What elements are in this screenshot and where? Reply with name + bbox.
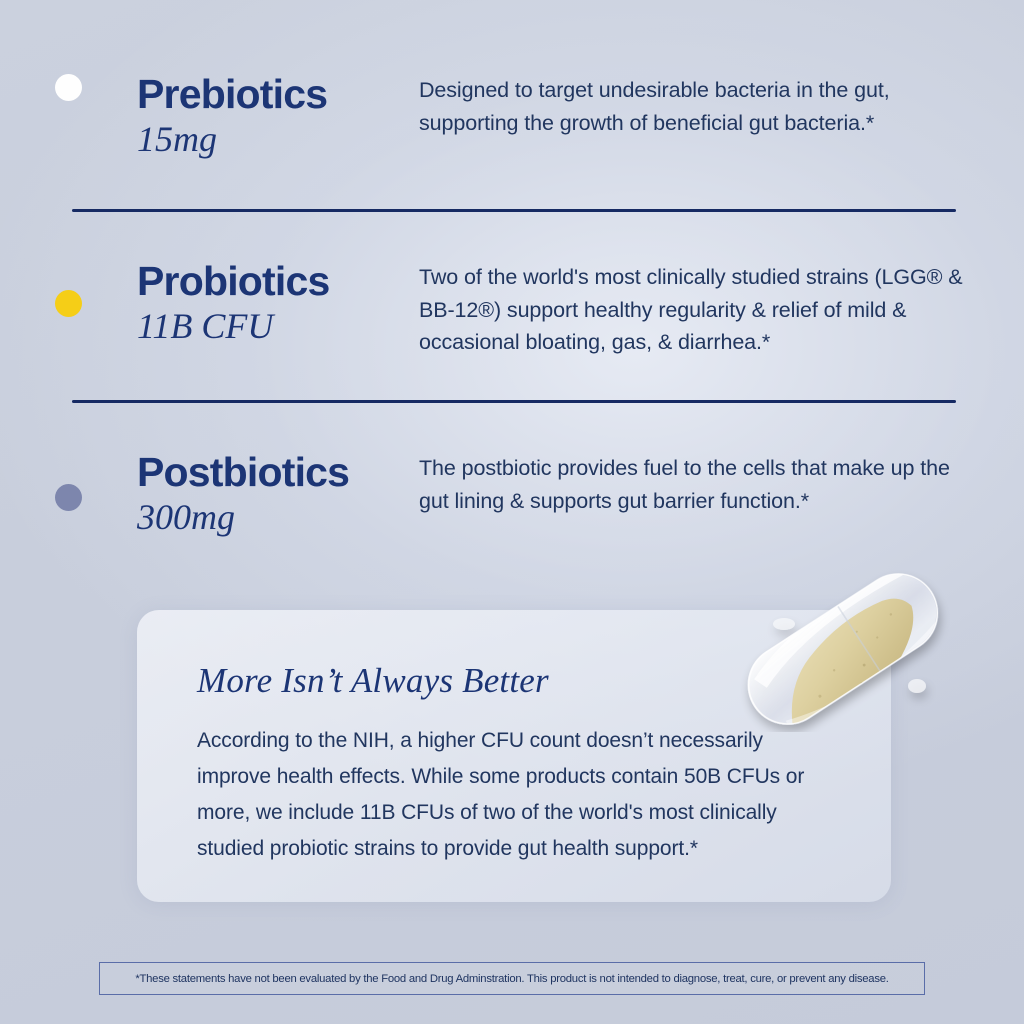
ingredient-dose: 300mg [137,496,419,538]
ingredient-name: Prebiotics [137,74,419,116]
ingredient-dose: 15mg [137,118,419,160]
ingredient-name-cell: Probiotics 11B CFU [137,261,419,347]
info-card-body: According to the NIH, a higher CFU count… [197,723,831,867]
bullet-dot-slate-icon [55,484,82,511]
divider-1 [72,209,956,212]
ingredient-description: Designed to target undesirable bacteria … [419,74,966,139]
supplement-ingredient-panel: Prebiotics 15mg Designed to target undes… [0,0,1024,1024]
ingredient-name-cell: Postbiotics 300mg [137,452,419,538]
divider-2 [72,400,956,403]
disclaimer-box: *These statements have not been evaluate… [99,962,925,995]
ingredient-dose: 11B CFU [137,305,419,347]
disclaimer-text: *These statements have not been evaluate… [135,973,888,985]
bullet-cell [0,74,137,101]
bullet-dot-yellow-icon [55,290,82,317]
info-card: More Isn’t Always Better According to th… [137,610,891,902]
ingredient-row-probiotics: Probiotics 11B CFU Two of the world's mo… [0,261,1024,359]
bullet-dot-white-icon [55,74,82,101]
ingredient-row-postbiotics: Postbiotics 300mg The postbiotic provide… [0,452,1024,538]
bullet-cell [0,261,137,317]
ingredient-name-cell: Prebiotics 15mg [137,74,419,160]
ingredient-description-cell: Designed to target undesirable bacteria … [419,74,1024,139]
ingredient-name: Probiotics [137,261,419,303]
info-card-title: More Isn’t Always Better [197,662,831,701]
ingredient-description: Two of the world's most clinically studi… [419,261,976,359]
ingredient-row-prebiotics: Prebiotics 15mg Designed to target undes… [0,74,1024,160]
bullet-cell [0,452,137,511]
info-card-content: More Isn’t Always Better According to th… [137,610,891,867]
ingredient-description-cell: The postbiotic provides fuel to the cell… [419,452,1024,517]
ingredient-description-cell: Two of the world's most clinically studi… [419,261,1024,359]
ingredient-description: The postbiotic provides fuel to the cell… [419,452,952,517]
ingredient-name: Postbiotics [137,452,419,494]
